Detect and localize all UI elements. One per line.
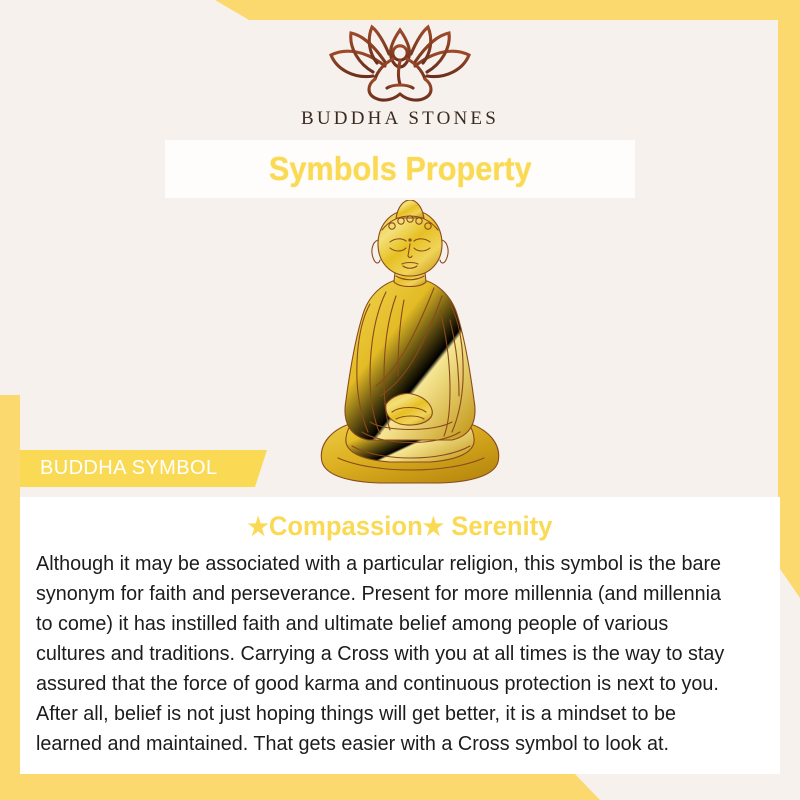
brand-header: BUDDHA STONES [0, 0, 800, 140]
brand-name: BUDDHA STONES [301, 108, 499, 130]
golden-seated-buddha-statue-icon [300, 200, 520, 500]
body-paragraph: Although it may be associated with a par… [36, 549, 739, 758]
content-panel: ★Compassion★ Serenity Although it may be… [20, 497, 780, 774]
star-icon-right: ★ [423, 513, 444, 541]
star-icon-left: ★ [248, 513, 269, 541]
tagline-word-left: Compassion [269, 511, 423, 541]
buddha-symbol-tag: BUDDHA SYMBOL [20, 450, 270, 487]
lotus-meditation-figure-icon [315, 22, 485, 104]
title-banner: Symbols Property [165, 140, 635, 198]
buddha-symbol-tag-label: BUDDHA SYMBOL [20, 457, 217, 480]
tagline-word-right: Serenity [451, 511, 552, 541]
tagline: ★Compassion★ Serenity [54, 511, 746, 542]
frame-band-left [0, 395, 20, 800]
frame-band-bottom [0, 774, 800, 800]
page-title: Symbols Property [269, 150, 532, 188]
